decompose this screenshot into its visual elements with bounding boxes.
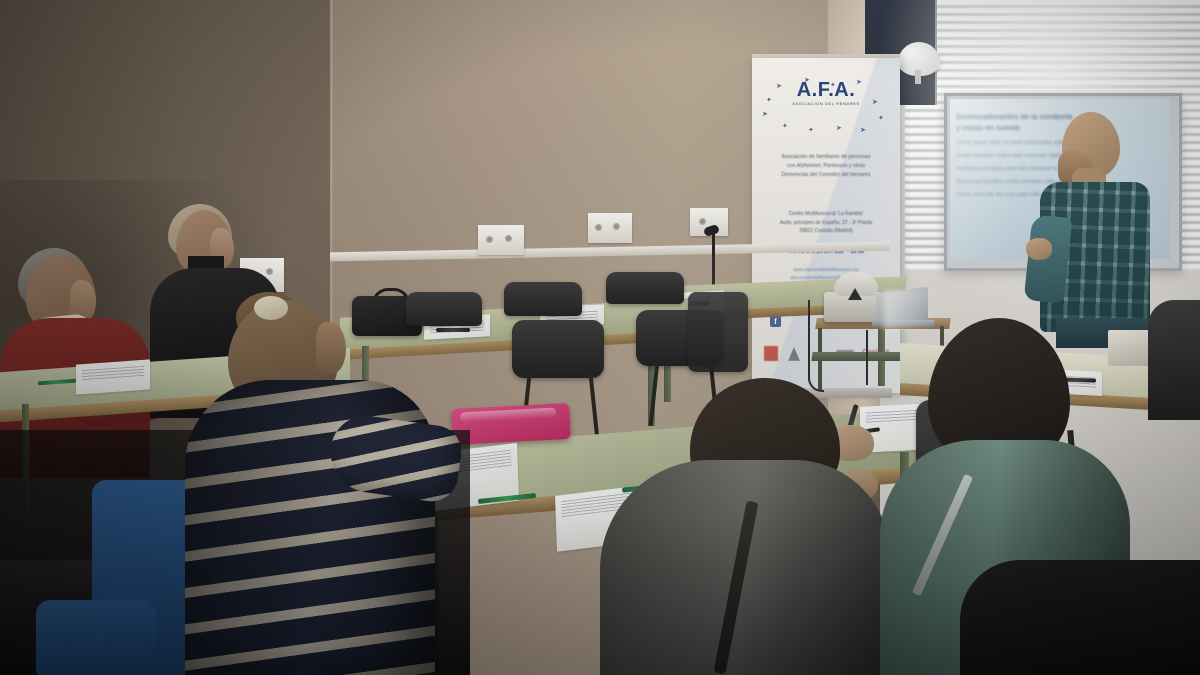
banner-address: Centro Multifuncional 'La Rambla' Avda. … — [760, 210, 892, 236]
sponsor-logo-2 — [788, 347, 800, 361]
afa-logo-text: A.F.A. — [752, 80, 900, 100]
presenter-hand — [1026, 238, 1052, 260]
attendee-far-right-shoulder — [1148, 300, 1200, 420]
attendee-striped-sweater-face — [316, 322, 346, 374]
facebook-icon: f — [770, 316, 781, 327]
chair[interactable] — [406, 292, 482, 326]
chair[interactable] — [688, 292, 748, 372]
banner-description-line: con Alzheimer, Parkinson y otras — [760, 162, 892, 171]
pen — [436, 328, 470, 332]
banner-address-line: Centro Multifuncional 'La Rambla' — [760, 210, 892, 219]
banner-address-line: 28822 Coslada (Madrid) — [760, 227, 892, 236]
chair[interactable] — [606, 272, 684, 304]
banner-web-line: www.afacorredordelhenares.org — [760, 266, 892, 274]
sponsor-logo-1 — [764, 346, 778, 361]
wall-socket-panel[interactable] — [588, 213, 632, 243]
banner-description-line: Demencias del Corredor del Henares — [760, 171, 892, 180]
afa-logo-tagline: ASOCIACION DEL HENARES — [752, 101, 900, 106]
classroom-photo: Desencadenantes de la conducta y cosas e… — [0, 0, 1200, 675]
afa-logo: ➤ ➤ ✦ ➤ ✦ ➤ ➤ ✦ ✦ ✦ ➤ ➤ A.F.A. ASOCIACIO… — [752, 80, 900, 106]
hair-scrunchie — [254, 296, 288, 320]
attendee-teal-sweater-lap — [960, 560, 1200, 675]
wall-socket-panel[interactable] — [478, 225, 524, 255]
chair[interactable] — [504, 282, 582, 316]
banner-description: Asociación de familiares de personas con… — [760, 153, 892, 180]
power-cable — [808, 300, 824, 392]
handout-paper — [76, 359, 150, 394]
tissue-box[interactable] — [1108, 330, 1152, 366]
banner-description-line: Asociación de familiares de personas — [760, 153, 892, 162]
chair-seat[interactable] — [512, 320, 604, 378]
projector-beam — [884, 290, 954, 330]
banner-address-line: Avda. principes de España, 22 - 3ª Plant… — [760, 219, 892, 228]
power-cable — [866, 330, 868, 385]
blue-chair[interactable] — [36, 600, 156, 675]
